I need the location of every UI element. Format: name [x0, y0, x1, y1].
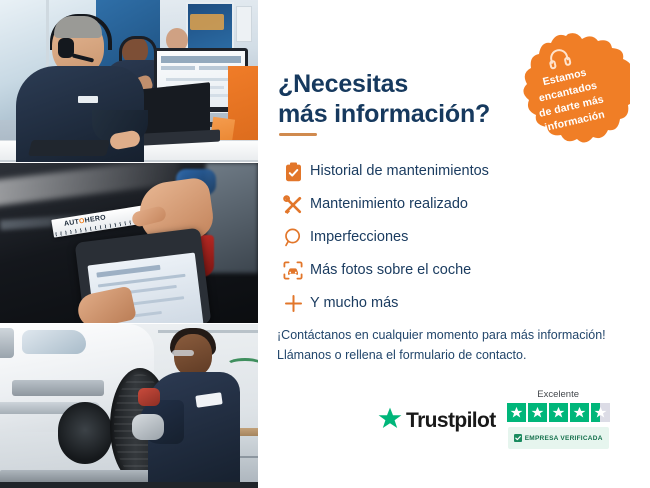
- plus-icon: [276, 291, 310, 317]
- trustpilot-rating: Excelente: [507, 389, 610, 449]
- star-half: [591, 403, 610, 422]
- vehicle-inspection-photo: AUTOHERO: [0, 163, 258, 323]
- star-filled: [507, 403, 526, 422]
- magnifier-icon: [276, 225, 310, 251]
- call-center-agent-photo: [0, 0, 258, 162]
- feature-label: Imperfecciones: [310, 230, 408, 245]
- contact-line-2: Llámanos o rellena el formulario de cont…: [277, 345, 637, 365]
- feature-list: Historial de mantenimientos Mantenimient…: [276, 155, 636, 320]
- crossed-tools-icon: [276, 192, 310, 218]
- clipboard-check-icon: [276, 159, 310, 185]
- title-underline-rule: [279, 133, 317, 136]
- feature-label: Historial de mantenimientos: [310, 164, 489, 179]
- trustpilot-widget[interactable]: Trustpilot Excelente: [378, 388, 640, 450]
- badge-text: Estamos encantados de darte más informac…: [516, 60, 623, 140]
- content-panel: ¿Necesitas más información?: [258, 0, 650, 488]
- car-photo-frame-icon: [276, 258, 310, 284]
- star-filled: [528, 403, 547, 422]
- page-title: ¿Necesitas más información?: [278, 69, 518, 130]
- feature-label: Mantenimiento realizado: [310, 197, 468, 212]
- trustpilot-logo: Trustpilot: [378, 407, 496, 435]
- mechanic-wheel-photo: [0, 324, 258, 488]
- star-rating: [507, 403, 610, 422]
- trustpilot-wordmark: Trustpilot: [406, 409, 496, 433]
- star-filled: [549, 403, 568, 422]
- feature-item-mantenimiento: Mantenimiento realizado: [276, 188, 636, 221]
- contact-line-1: ¡Contáctanos en cualquier momento para m…: [277, 325, 637, 345]
- star-filled: [570, 403, 589, 422]
- feature-item-fotos: Más fotos sobre el coche: [276, 254, 636, 287]
- verified-check-icon: [514, 429, 522, 447]
- feature-label: Más fotos sobre el coche: [310, 263, 471, 278]
- rating-label: Excelente: [537, 389, 579, 400]
- headset-icon: [546, 46, 572, 70]
- trustpilot-star-icon: [378, 407, 402, 435]
- contact-copy: ¡Contáctanos en cualquier momento para m…: [277, 325, 637, 366]
- feature-label: Y mucho más: [310, 296, 398, 311]
- feature-item-historial: Historial de mantenimientos: [276, 155, 636, 188]
- page-title-line2: más información?: [278, 100, 490, 128]
- feature-item-mas: Y mucho más: [276, 287, 636, 320]
- promo-banner: AUTOHERO: [0, 0, 650, 488]
- page-title-line1: ¿Necesitas: [278, 70, 408, 98]
- verified-company-badge: EMPRESA VERIFICADA: [508, 427, 609, 449]
- feature-item-imperfecciones: Imperfecciones: [276, 221, 636, 254]
- support-badge: Estamos encantados de darte más informac…: [506, 30, 630, 154]
- verified-label: EMPRESA VERIFICADA: [525, 435, 603, 442]
- photo-column: AUTOHERO: [0, 0, 258, 488]
